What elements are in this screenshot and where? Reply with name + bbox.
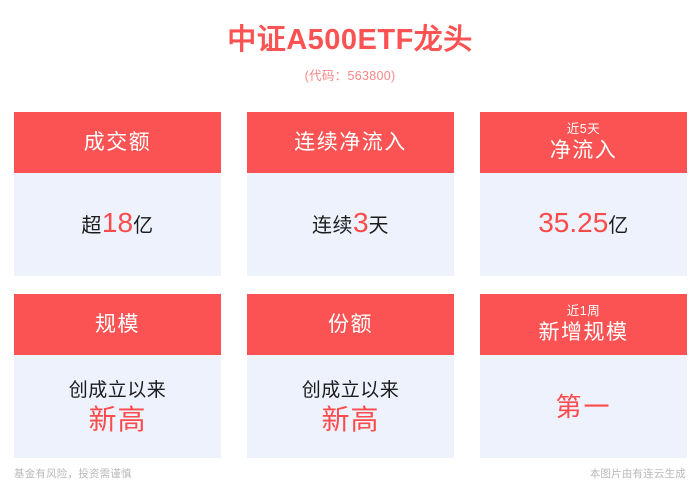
page-title: 中证A500ETF龙头	[0, 20, 700, 60]
footer-disclaimer: 基金有风险，投资需谨慎	[14, 466, 132, 481]
footer: 基金有风险，投资需谨慎 本图片由有连云生成	[14, 466, 686, 481]
infographic-page: 中证A500ETF龙头 (代码：563800) 成交额 超18亿 连续净流入 连…	[0, 0, 700, 501]
card-value-scale-line2: 新高	[88, 404, 146, 436]
value-suffix: 天	[369, 215, 390, 237]
value-prefix: 连续	[312, 215, 353, 237]
card-header-shares: 份额	[247, 294, 454, 355]
card-title-consecutive-inflow: 连续净流入	[294, 129, 407, 156]
metric-card-weekly-scale-growth: 近1周 新增规模 第一	[480, 294, 687, 458]
value-suffix: 亿	[133, 215, 154, 237]
card-title-scale-growth: 新增规模	[539, 319, 629, 346]
value-prefix: 超	[81, 215, 102, 237]
metric-card-shares: 份额 创成立以来 新高	[247, 294, 454, 458]
value-suffix: 亿	[608, 215, 629, 237]
card-body-turnover: 超18亿	[14, 173, 221, 276]
card-body-5day-net-inflow: 35.25亿	[480, 173, 687, 276]
card-value-scale-line1: 创成立以来	[69, 378, 167, 404]
page-header: 中证A500ETF龙头 (代码：563800)	[0, 0, 700, 86]
value-number: 3	[353, 207, 369, 238]
card-body-consecutive-inflow: 连续3天	[247, 173, 454, 276]
card-header-weekly-scale-growth: 近1周 新增规模	[480, 294, 687, 355]
card-header-turnover: 成交额	[14, 112, 221, 173]
card-body-scale: 创成立以来 新高	[14, 355, 221, 458]
card-title-shares: 份额	[328, 311, 373, 338]
card-value-shares-line2: 新高	[321, 404, 379, 436]
metric-card-turnover: 成交额 超18亿	[14, 112, 221, 276]
metric-card-grid: 成交额 超18亿 连续净流入 连续3天 近5天 净流入 35.25亿	[14, 112, 687, 458]
footer-attribution: 本图片由有连云生成	[590, 466, 686, 481]
card-value-shares-line1: 创成立以来	[302, 378, 400, 404]
card-value-5day-net-inflow: 35.25亿	[538, 209, 629, 240]
metric-card-consecutive-inflow: 连续净流入 连续3天	[247, 112, 454, 276]
card-value-turnover: 超18亿	[81, 209, 153, 240]
card-eyebrow-5day: 近5天	[567, 122, 600, 137]
value-number: 18	[102, 207, 133, 238]
card-eyebrow-1week: 近1周	[567, 304, 600, 319]
metric-card-5day-net-inflow: 近5天 净流入 35.25亿	[480, 112, 687, 276]
card-header-consecutive-inflow: 连续净流入	[247, 112, 454, 173]
metric-card-scale: 规模 创成立以来 新高	[14, 294, 221, 458]
card-header-5day-net-inflow: 近5天 净流入	[480, 112, 687, 173]
card-title-turnover: 成交额	[84, 129, 152, 156]
value-number: 35.25	[538, 207, 608, 238]
card-body-weekly-scale-growth: 第一	[480, 355, 687, 458]
card-title-scale: 规模	[95, 311, 140, 338]
card-header-scale: 规模	[14, 294, 221, 355]
card-value-weekly-rank: 第一	[555, 391, 611, 423]
card-value-consecutive-inflow: 连续3天	[312, 209, 389, 240]
card-title-net-inflow: 净流入	[550, 137, 618, 164]
card-body-shares: 创成立以来 新高	[247, 355, 454, 458]
fund-code-subtitle: (代码：563800)	[0, 66, 700, 86]
